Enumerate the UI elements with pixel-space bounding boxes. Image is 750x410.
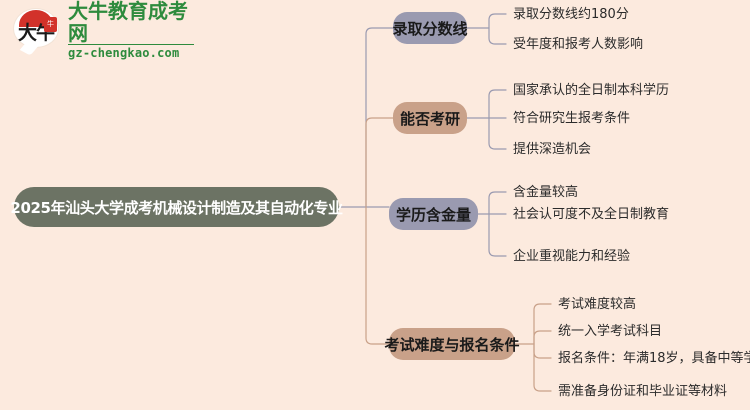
leaf-label[interactable]: 录取分数线约180分 xyxy=(513,8,629,22)
logo-url: gz-chengkao.com xyxy=(68,44,194,61)
leaf-label[interactable]: 考试难度较高 xyxy=(558,298,636,312)
mindmap-branch-xuelihanjinliang[interactable]: 学历含金量 xyxy=(389,198,478,230)
leaf-label[interactable]: 含金量较高 xyxy=(513,186,578,200)
leaf-label[interactable]: 符合研究生报考条件 xyxy=(513,112,630,126)
logo-seal-icon: 牛 xyxy=(44,17,57,32)
site-logo: 大牛 牛 大牛教育成考网 gz-chengkao.com xyxy=(14,6,194,54)
mindmap-canvas: 大牛 牛 大牛教育成考网 gz-chengkao.com xyxy=(0,0,750,410)
mindmap-branch-nengfoukaoyan[interactable]: 能否考研 xyxy=(393,102,467,134)
leaf-label[interactable]: 需准备身份证和毕业证等材料 xyxy=(558,385,727,399)
leaf-label[interactable]: 企业重视能力和经验 xyxy=(513,250,630,264)
logo-bubble-icon: 大牛 牛 xyxy=(14,8,60,52)
mindmap-branch-kaoshinandu[interactable]: 考试难度与报名条件 xyxy=(389,328,515,360)
mindmap-branch-luqufenshuxian[interactable]: 录取分数线 xyxy=(393,12,467,44)
leaf-label[interactable]: 报名条件：年满18岁，具备中等学历 xyxy=(558,352,750,366)
leaf-label[interactable]: 受年度和报考人数影响 xyxy=(513,38,643,52)
leaf-label[interactable]: 统一入学考试科目 xyxy=(558,325,662,339)
logo-title: 大牛教育成考网 xyxy=(68,0,194,44)
mindmap-root-node[interactable]: 2025年汕头大学成考机械设计制造及其自动化专业 xyxy=(14,187,339,227)
leaf-label[interactable]: 国家承认的全日制本科学历 xyxy=(513,84,669,98)
leaf-label[interactable]: 社会认可度不及全日制教育 xyxy=(513,208,669,222)
leaf-label[interactable]: 提供深造机会 xyxy=(513,143,591,157)
